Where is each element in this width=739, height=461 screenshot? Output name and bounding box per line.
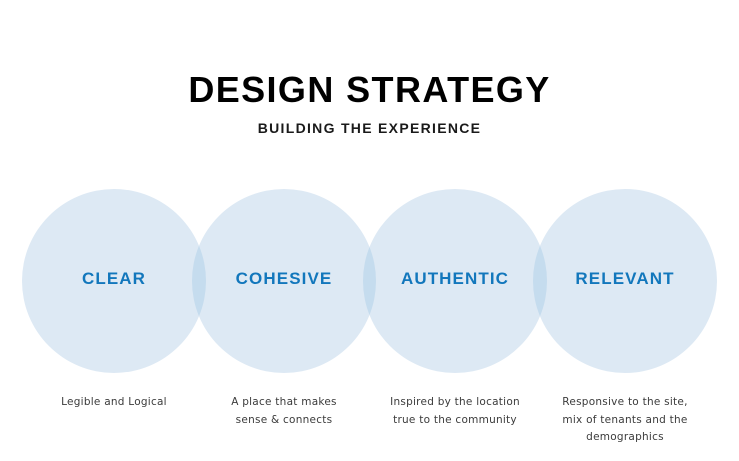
caption-line: Legible and Logical [21,394,207,412]
caption-line: true to the community [362,412,548,430]
venn-label-relevant: RELEVANT [530,268,720,290]
caption-line: sense & connects [191,412,377,430]
caption-line: demographics [532,429,718,447]
venn-caption-authentic: Inspired by the location true to the com… [362,394,548,429]
caption-line: Inspired by the location [362,394,548,412]
venn-caption-relevant: Responsive to the site, mix of tenants a… [532,394,718,447]
venn-caption-cohesive: A place that makes sense & connects [191,394,377,429]
page-subtitle: BUILDING THE EXPERIENCE [0,119,739,137]
page-title: DESIGN STRATEGY [0,70,739,110]
caption-line: A place that makes [191,394,377,412]
design-strategy-slide: DESIGN STRATEGY BUILDING THE EXPERIENCE [0,0,739,461]
caption-line: Responsive to the site, [532,394,718,412]
venn-label-authentic: AUTHENTIC [360,268,550,290]
venn-label-cohesive: COHESIVE [189,268,379,290]
venn-caption-clear: Legible and Logical [21,394,207,412]
venn-label-clear: CLEAR [19,268,209,290]
caption-line: mix of tenants and the [532,412,718,430]
